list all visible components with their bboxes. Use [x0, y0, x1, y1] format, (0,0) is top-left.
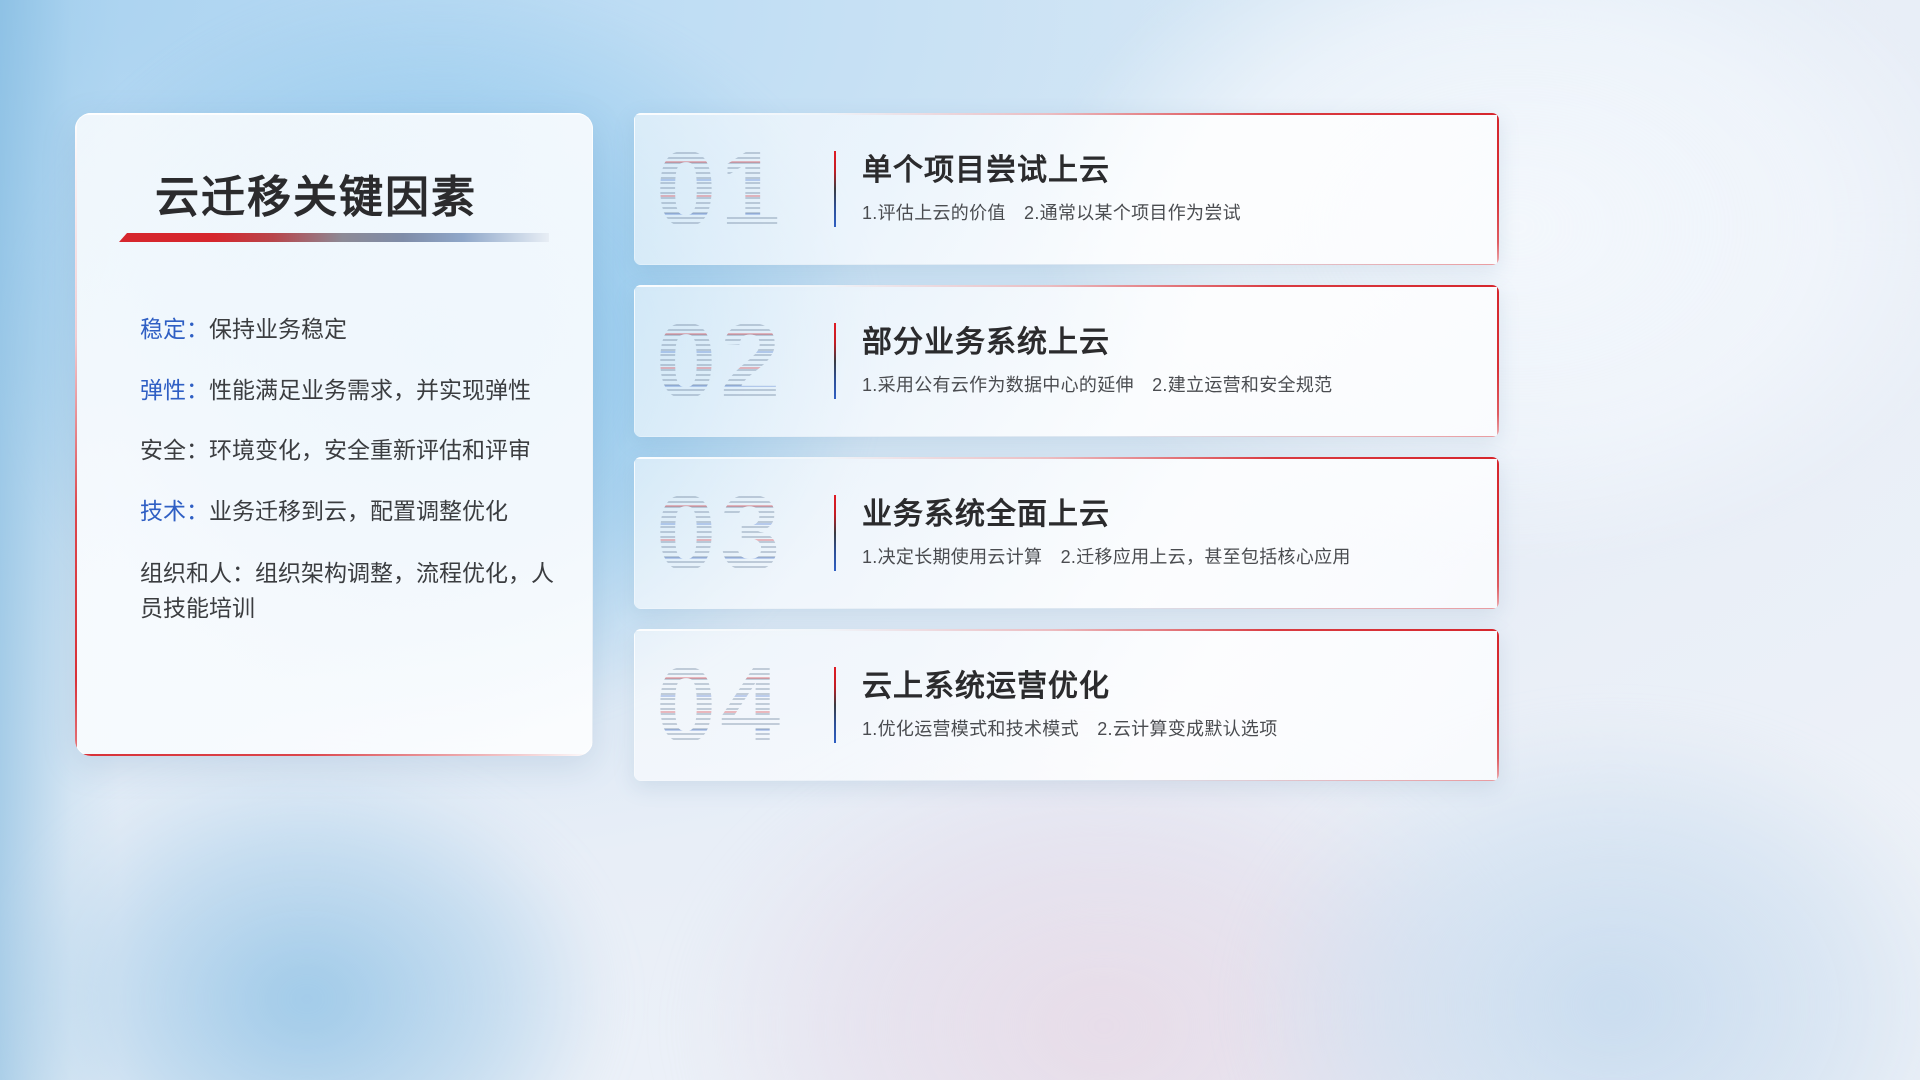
panel-edge-top: [75, 113, 593, 115]
stage-card-04[interactable]: 04 04 云上系统运营优化 1.优化运营模式和技术模式 2.云计算变成默认选项: [634, 629, 1499, 781]
stage-number-ghost: 02: [656, 299, 784, 423]
stage-description: 1.采用公有云作为数据中心的延伸 2.建立运营和安全规范: [862, 371, 1332, 397]
list-item-label: 弹性：: [140, 377, 209, 403]
card-divider-bar: [834, 667, 836, 743]
page-title: 云迁移关键因素: [155, 161, 477, 225]
list-item: 安全：环境变化，安全重新评估和评审: [140, 434, 560, 467]
stage-title: 云上系统运营优化: [862, 661, 1110, 705]
list-item-text: 环境变化，安全重新评估和评审: [209, 437, 531, 463]
card-divider-bar: [834, 495, 836, 571]
stage-description: 1.优化运营模式和技术模式 2.云计算变成默认选项: [862, 715, 1278, 741]
list-item: 组织和人：组织架构调整，流程优化，人员技能培训: [140, 556, 560, 627]
list-item-label: 安全：: [140, 437, 209, 463]
list-item-text: 业务迁移到云，配置调整优化: [209, 498, 508, 524]
card-edge-left: [634, 457, 635, 609]
stage-card-02[interactable]: 02 02 部分业务系统上云 1.采用公有云作为数据中心的延伸 2.建立运营和安…: [634, 285, 1499, 437]
stage-title: 部分业务系统上云: [862, 317, 1110, 361]
card-edge-right-accent: [1497, 457, 1499, 609]
list-item-label: 技术：: [140, 498, 209, 524]
card-edge-left: [634, 113, 635, 265]
panel-edge-bottom-accent: [75, 754, 593, 756]
card-divider-bar: [834, 151, 836, 227]
list-item-label: 组织和人：: [140, 560, 255, 586]
key-factors-list: 稳定：保持业务稳定 弹性：性能满足业务需求，并实现弹性 安全：环境变化，安全重新…: [140, 313, 560, 655]
card-edge-bottom: [634, 436, 1499, 437]
stage-number-ghost: 03: [656, 471, 784, 595]
list-item: 技术：业务迁移到云，配置调整优化: [140, 495, 560, 528]
card-edge-top-accent: [634, 285, 1499, 287]
card-edge-right-accent: [1497, 113, 1499, 265]
stage-number-ghost: 04: [656, 643, 784, 767]
card-edge-left: [634, 285, 635, 437]
key-factors-panel: 云迁移关键因素 稳定：保持业务稳定 弹性：性能满足业务需求，并实现弹性 安全：环…: [75, 113, 593, 756]
title-underline-accent: [119, 233, 549, 242]
card-edge-right-accent: [1497, 629, 1499, 781]
card-edge-bottom: [634, 264, 1499, 265]
card-edge-bottom: [634, 608, 1499, 609]
list-item-text: 性能满足业务需求，并实现弹性: [209, 377, 531, 403]
stage-title: 业务系统全面上云: [862, 489, 1110, 533]
card-edge-bottom: [634, 780, 1499, 781]
stage-description: 1.决定长期使用云计算 2.迁移应用上云，甚至包括核心应用: [862, 543, 1351, 569]
card-divider-bar: [834, 323, 836, 399]
stage-number-ghost: 01: [656, 127, 784, 251]
stage-card-01[interactable]: 01 01 单个项目尝试上云 1.评估上云的价值 2.通常以某个项目作为尝试: [634, 113, 1499, 265]
stage-card-03[interactable]: 03 03 业务系统全面上云 1.决定长期使用云计算 2.迁移应用上云，甚至包括…: [634, 457, 1499, 609]
stage-title: 单个项目尝试上云: [862, 145, 1110, 189]
card-edge-top-accent: [634, 113, 1499, 115]
list-item: 稳定：保持业务稳定: [140, 313, 560, 346]
list-item-label: 稳定：: [140, 316, 209, 342]
stage-description: 1.评估上云的价值 2.通常以某个项目作为尝试: [862, 199, 1241, 225]
list-item: 弹性：性能满足业务需求，并实现弹性: [140, 374, 560, 407]
panel-edge-right: [592, 113, 593, 756]
panel-edge-left-accent: [75, 113, 77, 756]
list-item-text: 保持业务稳定: [209, 316, 347, 342]
card-edge-top-accent: [634, 457, 1499, 459]
card-edge-right-accent: [1497, 285, 1499, 437]
card-edge-top-accent: [634, 629, 1499, 631]
card-edge-left: [634, 629, 635, 781]
